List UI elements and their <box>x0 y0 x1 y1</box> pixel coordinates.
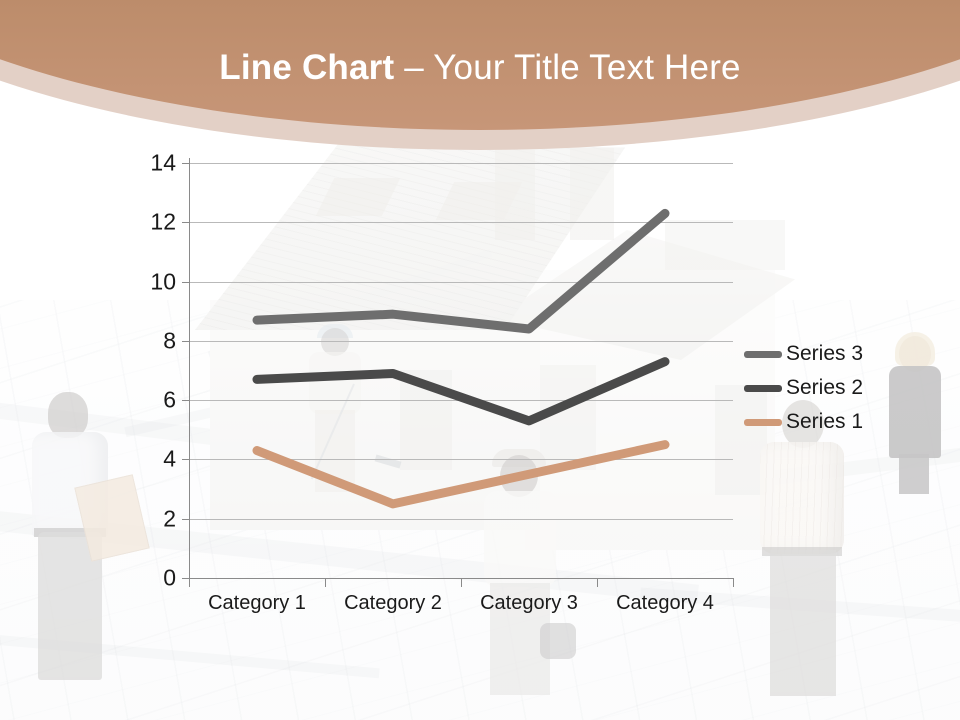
presentation-slide: Line Chart – Your Title Text Here 024681… <box>0 0 960 720</box>
series-line <box>257 213 665 329</box>
legend-swatch <box>744 419 782 426</box>
series-line <box>257 362 665 421</box>
legend-label: Series 2 <box>786 376 863 400</box>
legend-swatch <box>744 351 782 358</box>
legend-swatch <box>744 385 782 392</box>
series-line <box>257 445 665 504</box>
legend-label: Series 3 <box>786 342 863 366</box>
legend-item[interactable]: Series 1 <box>744 405 894 439</box>
legend-label: Series 1 <box>786 410 863 434</box>
legend-item[interactable]: Series 3 <box>744 337 894 371</box>
legend-item[interactable]: Series 2 <box>744 371 894 405</box>
chart-legend: Series 3Series 2Series 1 <box>744 337 894 439</box>
